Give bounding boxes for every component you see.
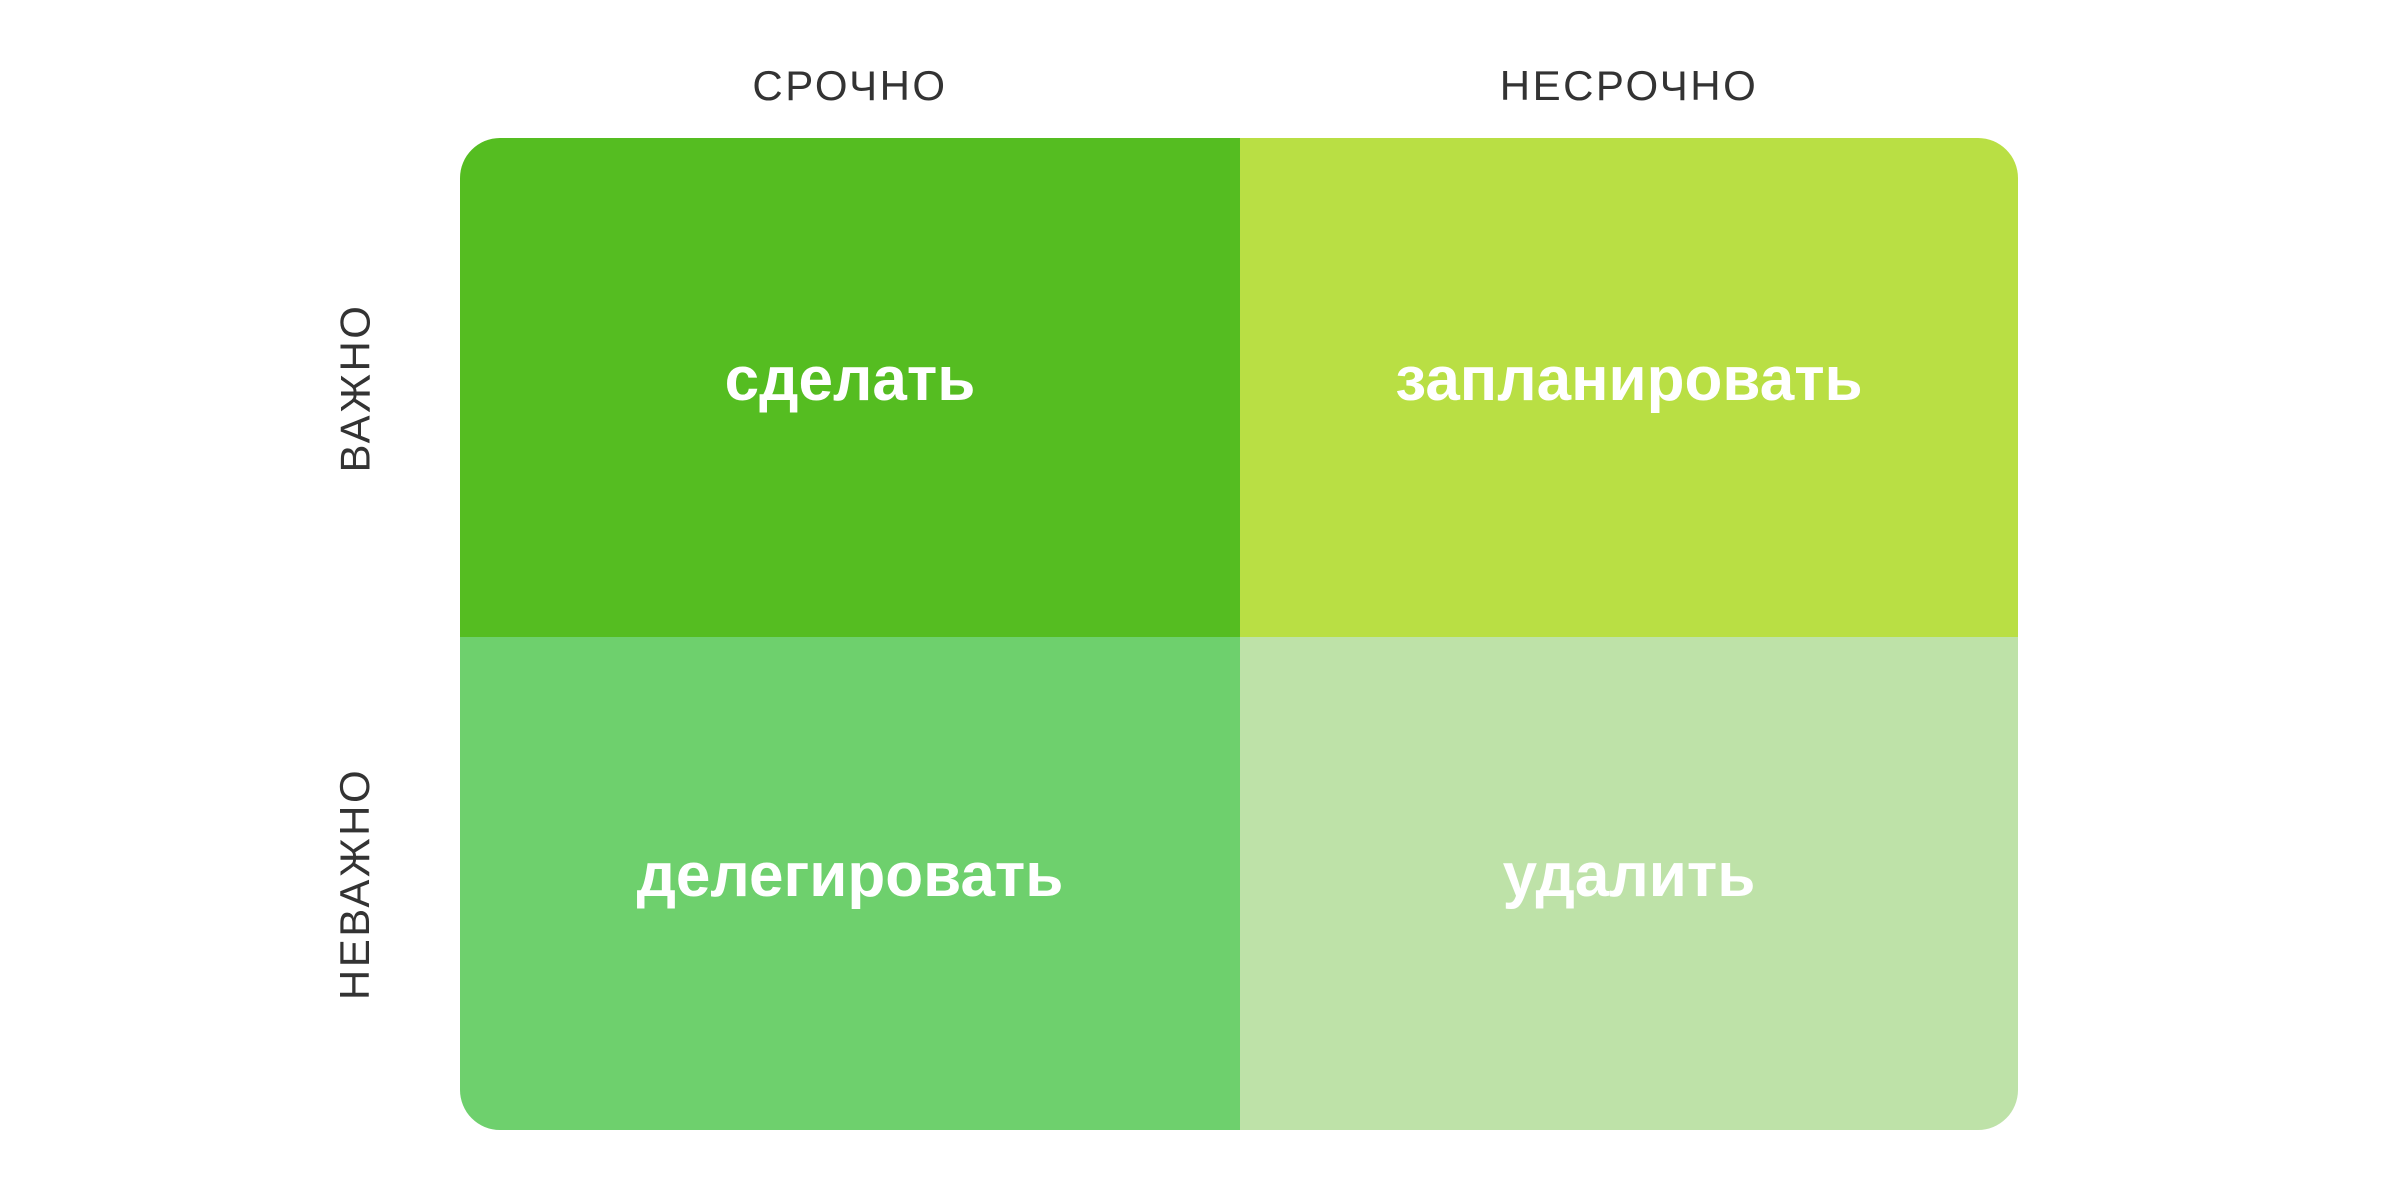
matrix-grid: сделать запланировать делегировать удали… xyxy=(460,138,2018,1130)
quadrant-schedule-label: запланировать xyxy=(1395,344,1862,415)
quadrant-do[interactable]: сделать xyxy=(460,138,1240,637)
quadrant-delete-label: удалить xyxy=(1503,840,1756,911)
row-header-important-label: ВАЖНО xyxy=(331,303,379,472)
quadrant-delegate-label: делегировать xyxy=(637,840,1064,911)
row-header-unimportant-label: НЕВАЖНО xyxy=(331,767,379,999)
quadrant-delegate[interactable]: делегировать xyxy=(460,637,1240,1130)
column-header-urgent: СРОЧНО xyxy=(460,58,1240,114)
column-header-not-urgent: НЕСРОЧНО xyxy=(1240,58,2018,114)
row-header-unimportant: НЕВАЖНО xyxy=(300,637,410,1130)
eisenhower-matrix-canvas: СРОЧНО НЕСРОЧНО ВАЖНО НЕВАЖНО сделать за… xyxy=(0,0,2400,1200)
row-header-important: ВАЖНО xyxy=(300,138,410,637)
quadrant-schedule[interactable]: запланировать xyxy=(1240,138,2018,637)
quadrant-do-label: сделать xyxy=(725,344,976,415)
quadrant-delete[interactable]: удалить xyxy=(1240,637,2018,1130)
